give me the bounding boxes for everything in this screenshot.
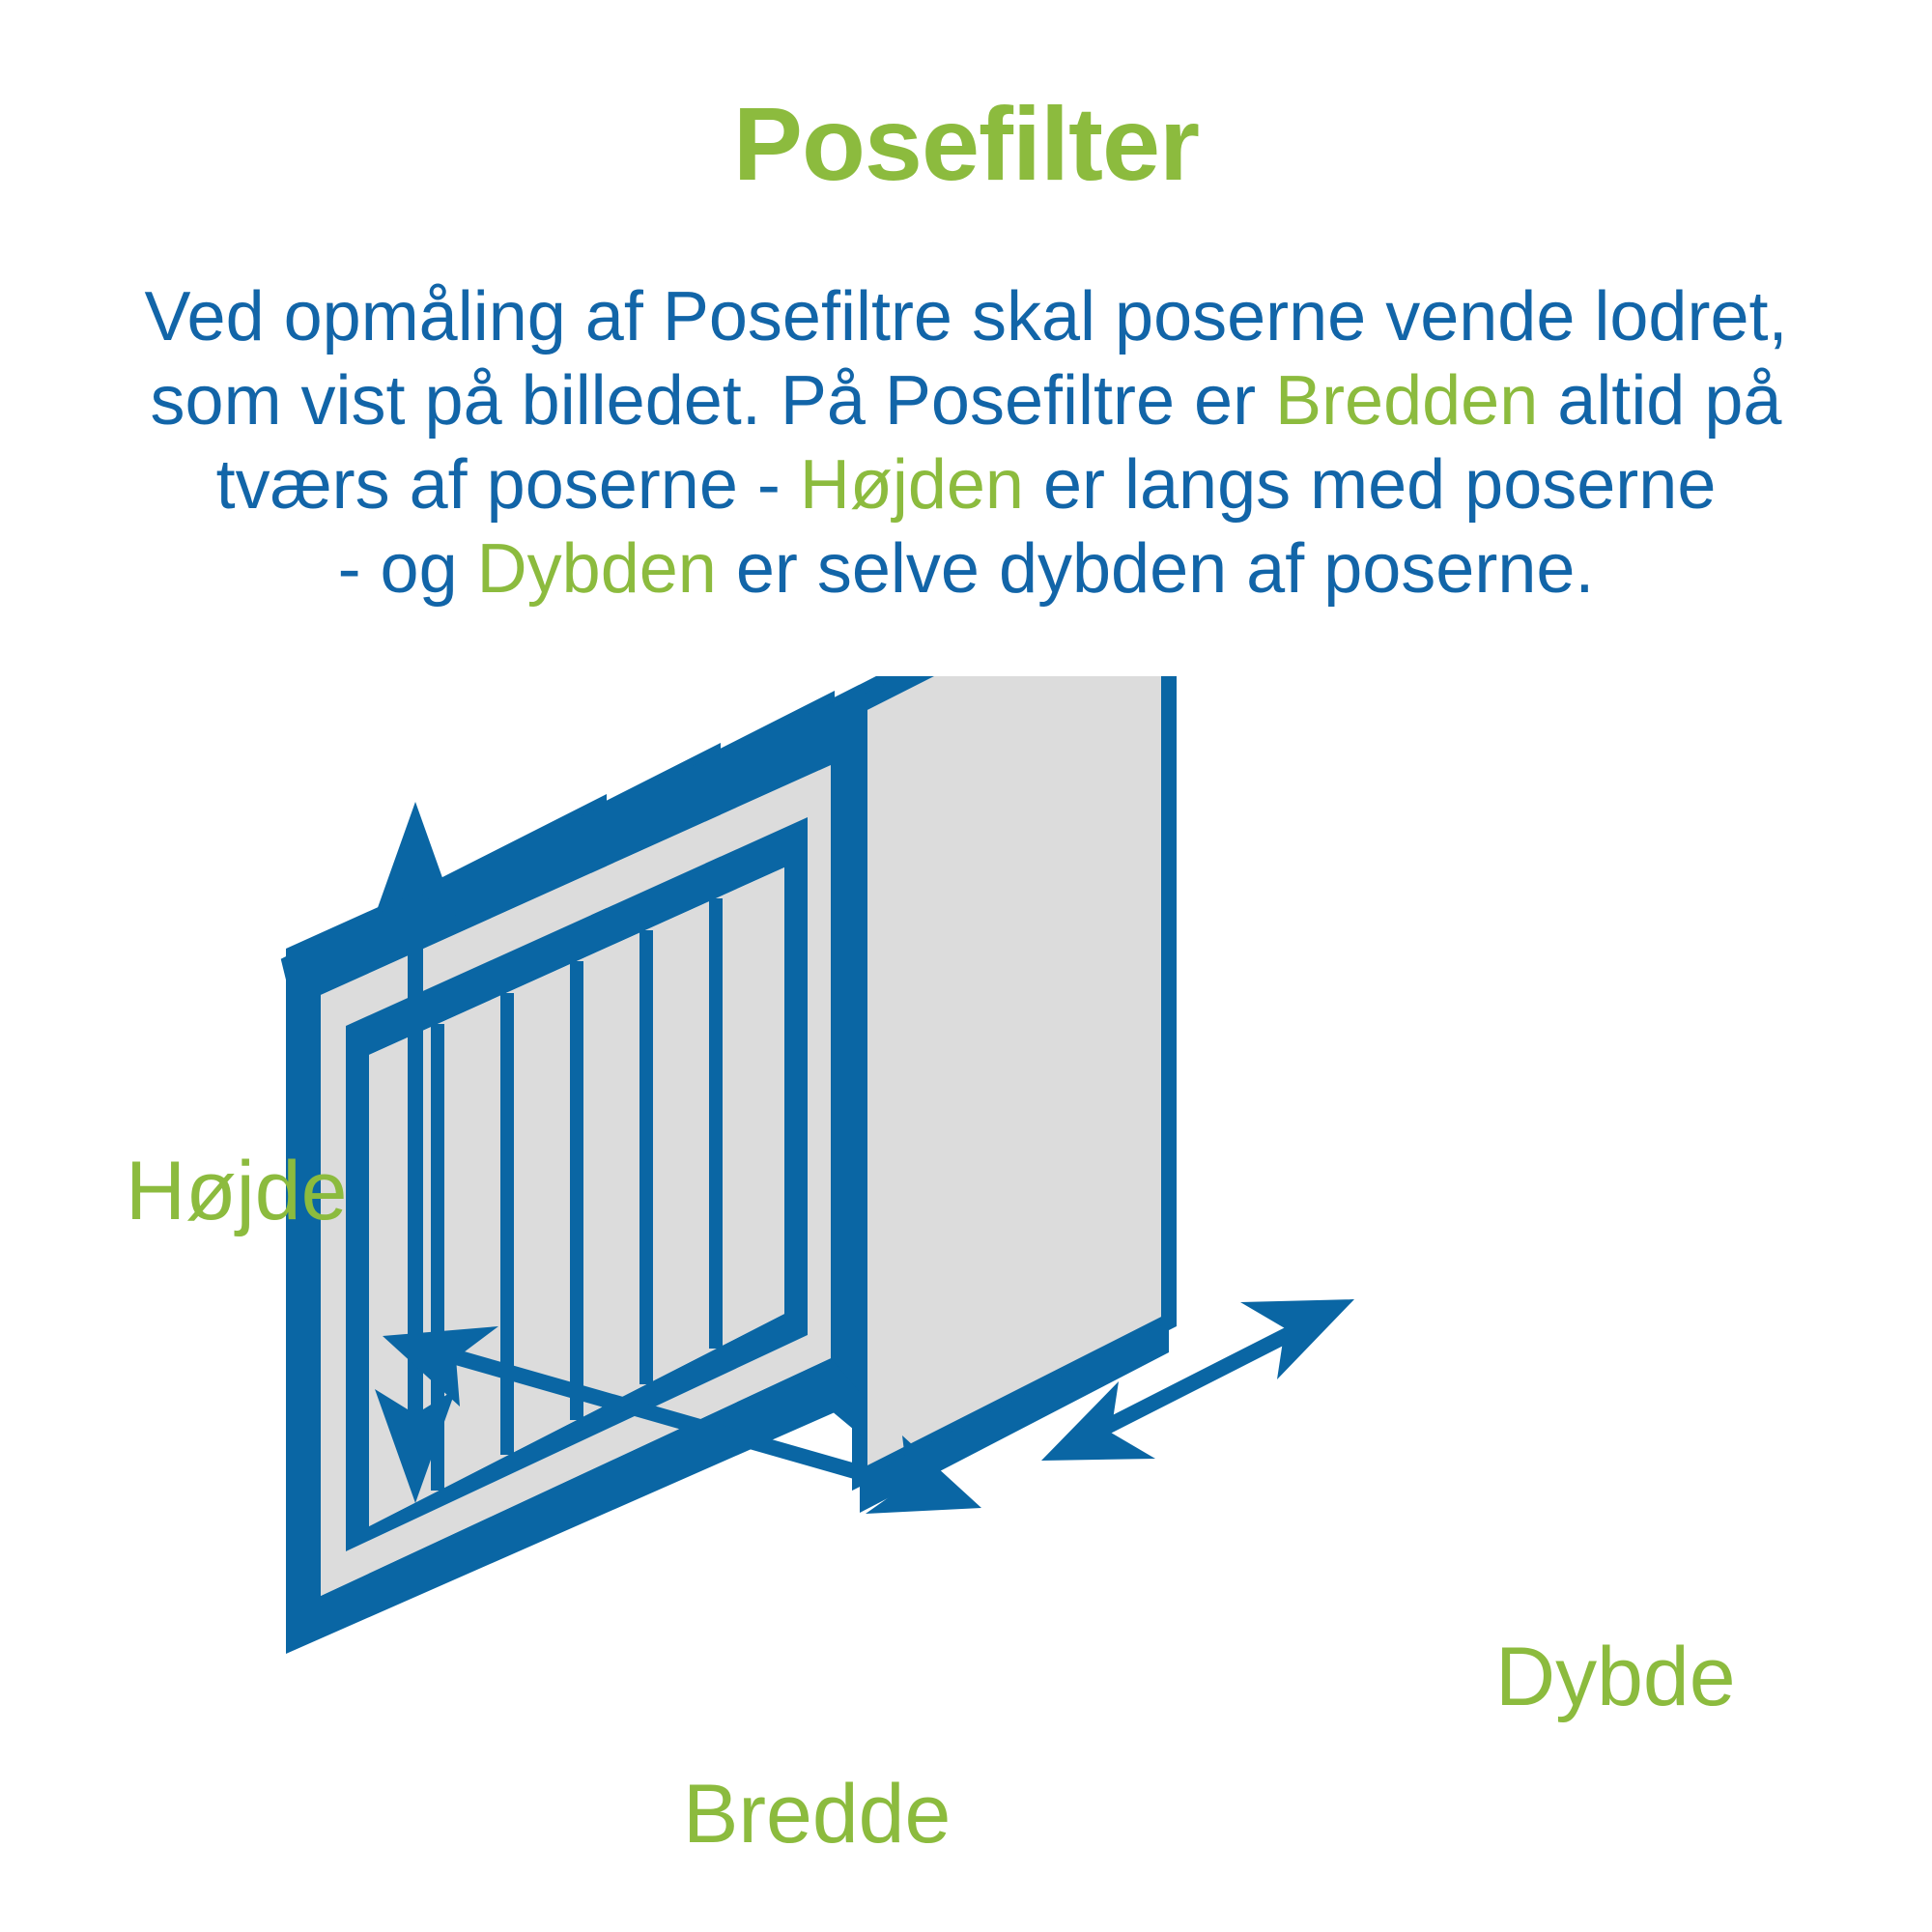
poster-root: { "title": "Posefilter", "intro": { "lin… bbox=[0, 0, 1932, 1932]
intro-line-2: som vist på billedet. På Posefiltre er B… bbox=[87, 359, 1845, 443]
dimension-label-depth: Dybde bbox=[1495, 1635, 1736, 1719]
intro-paragraph: Ved opmåling af Posefiltre skal poserne … bbox=[87, 275, 1845, 611]
intro-line-4: - og Dybden er selve dybden af poserne. bbox=[87, 527, 1845, 611]
dimension-label-width: Bredde bbox=[683, 1773, 951, 1856]
intro-seg: tværs af poserne - bbox=[216, 446, 800, 524]
page-title: Posefilter bbox=[0, 92, 1932, 196]
intro-keyword-dybden: Dybden bbox=[477, 530, 717, 608]
intro-seg: er langs med poserne bbox=[1024, 446, 1716, 524]
intro-keyword-hojden: Højden bbox=[800, 446, 1024, 524]
intro-seg: Ved opmåling af Posefiltre skal poserne … bbox=[144, 278, 1787, 355]
intro-seg: - og bbox=[338, 530, 477, 608]
intro-seg: er selve dybden af poserne. bbox=[717, 530, 1595, 608]
dimension-label-height: Højde bbox=[126, 1150, 347, 1233]
intro-seg: altid på bbox=[1538, 362, 1781, 440]
intro-line-3: tværs af poserne - Højden er langs med p… bbox=[87, 443, 1845, 527]
intro-keyword-bredden: Bredden bbox=[1275, 362, 1538, 440]
intro-seg: som vist på billedet. På Posefiltre er bbox=[151, 362, 1276, 440]
intro-line-1: Ved opmåling af Posefiltre skal poserne … bbox=[87, 275, 1845, 359]
